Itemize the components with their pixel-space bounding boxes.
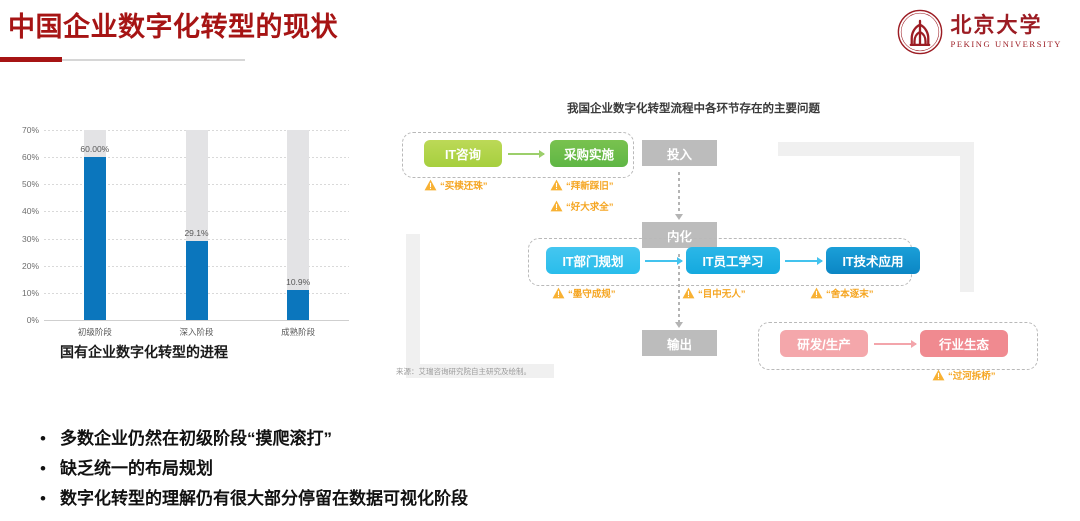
chart-caption: 国有企业数字化转型的进程 bbox=[60, 342, 228, 362]
warning-bai-xin-cai-jiu: “拜新踩旧” bbox=[550, 178, 614, 192]
university-seal-icon bbox=[897, 9, 943, 55]
warning-she-ben-zhu-mo: “舍本逐末” bbox=[810, 286, 874, 300]
warning-label: “买椟还珠” bbox=[440, 178, 488, 192]
logo-wordmark: 北京大学 PEKING UNIVERSITY bbox=[951, 15, 1063, 49]
warning-mu-zhong-wu-ren: “目中无人” bbox=[682, 286, 746, 300]
title-underline bbox=[0, 57, 245, 62]
x-axis-tick-label: 成熟阶段 bbox=[281, 326, 315, 338]
warning-icon bbox=[932, 369, 945, 381]
node-industry-ecosystem[interactable]: 行业生态 bbox=[920, 330, 1008, 357]
warning-label: “墨守成规” bbox=[568, 286, 616, 300]
y-axis-tick-label: 60% bbox=[22, 152, 39, 162]
page-title: 中国企业数字化转型的现状 bbox=[8, 8, 338, 46]
logo-chinese-name: 北京大学 bbox=[951, 15, 1063, 36]
arrow-row1-1 bbox=[508, 153, 544, 155]
chart-plot-area: 0%10%20%30%40%50%60%70%60.00%初级阶段29.1%深入… bbox=[44, 130, 349, 320]
list-item: •多数企业仍然在初级阶段“摸爬滚打” bbox=[40, 428, 740, 450]
warning-hao-da-qiu-quan: “好大求全” bbox=[550, 199, 614, 213]
warning-icon bbox=[550, 179, 563, 191]
list-item: •数字化转型的理解仍有很大部分停留在数据可视化阶段 bbox=[40, 488, 740, 510]
arrow-row2-1 bbox=[645, 260, 682, 262]
bar-value bbox=[287, 290, 309, 320]
stage-box-input: 投入 bbox=[642, 140, 717, 166]
y-axis-tick-label: 70% bbox=[22, 125, 39, 135]
warning-label: “好大求全” bbox=[566, 199, 614, 213]
bullet-marker: • bbox=[40, 488, 48, 510]
warning-guo-he-chai-qiao: “过河拆桥” bbox=[932, 368, 996, 382]
process-diagram: 我国企业数字化转型流程中各环节存在的主要问题 投入 内化 输出 IT咨询 采购实… bbox=[392, 96, 1080, 386]
y-axis-tick-label: 10% bbox=[22, 288, 39, 298]
bar-data-label: 29.1% bbox=[184, 228, 208, 238]
y-axis-tick-label: 50% bbox=[22, 179, 39, 189]
arrow-row2-2 bbox=[785, 260, 822, 262]
arrow-row3-1 bbox=[874, 343, 916, 345]
stage-box-output: 输出 bbox=[642, 330, 717, 356]
left-bracket-vertical bbox=[406, 234, 420, 378]
warning-icon bbox=[552, 287, 565, 299]
warning-icon bbox=[810, 287, 823, 299]
warning-label: “舍本逐末” bbox=[826, 286, 874, 300]
title-underline-accent bbox=[0, 57, 62, 62]
node-it-tech-application[interactable]: IT技术应用 bbox=[826, 247, 920, 274]
peking-university-logo: 北京大学 PEKING UNIVERSITY bbox=[897, 8, 1063, 56]
y-axis-tick-label: 20% bbox=[22, 261, 39, 271]
slide-root: 中国企业数字化转型的现状 北京大学 PEKING UNIVERSITY 0%10… bbox=[0, 0, 1080, 521]
bullet-marker: • bbox=[40, 428, 48, 450]
warning-label: “过河拆桥” bbox=[948, 368, 996, 382]
bar-value bbox=[84, 157, 106, 320]
warning-icon bbox=[682, 287, 695, 299]
gridline bbox=[44, 320, 349, 321]
bullet-text: 多数企业仍然在初级阶段“摸爬滚打” bbox=[60, 428, 332, 450]
y-axis-tick-label: 40% bbox=[22, 206, 39, 216]
bar-data-label: 60.00% bbox=[80, 144, 109, 154]
y-axis-tick-label: 0% bbox=[27, 315, 39, 325]
warning-icon bbox=[424, 179, 437, 191]
diagram-title: 我国企业数字化转型流程中各环节存在的主要问题 bbox=[567, 100, 820, 116]
warning-icon bbox=[550, 200, 563, 212]
node-it-dept-planning[interactable]: IT部门规划 bbox=[546, 247, 640, 274]
bullet-text: 数字化转型的理解仍有很大部分停留在数据可视化阶段 bbox=[60, 488, 468, 510]
warning-label: “拜新踩旧” bbox=[566, 178, 614, 192]
bar-data-label: 10.9% bbox=[286, 277, 310, 287]
key-points-list: •多数企业仍然在初级阶段“摸爬滚打”•缺乏统一的布局规划•数字化转型的理解仍有很… bbox=[40, 428, 740, 518]
bar-value bbox=[186, 241, 208, 320]
list-item: •缺乏统一的布局规划 bbox=[40, 458, 740, 480]
warning-mo-shou-cheng-gui: “墨守成规” bbox=[552, 286, 616, 300]
node-procurement[interactable]: 采购实施 bbox=[550, 140, 628, 167]
right-bracket-horizontal bbox=[778, 142, 974, 156]
warning-mai-du-huan-zhu: “买椟还珠” bbox=[424, 178, 488, 192]
bullet-marker: • bbox=[40, 458, 48, 480]
node-rd-production[interactable]: 研发/生产 bbox=[780, 330, 868, 357]
bullet-text: 缺乏统一的布局规划 bbox=[60, 458, 213, 480]
x-axis-tick-label: 初级阶段 bbox=[78, 326, 112, 338]
y-axis-tick-label: 30% bbox=[22, 234, 39, 244]
logo-english-name: PEKING UNIVERSITY bbox=[951, 40, 1063, 49]
stage-connector-1 bbox=[678, 172, 680, 214]
node-it-staff-learning[interactable]: IT员工学习 bbox=[686, 247, 780, 274]
warning-label: “目中无人” bbox=[698, 286, 746, 300]
node-it-consulting[interactable]: IT咨询 bbox=[424, 140, 502, 167]
x-axis-tick-label: 深入阶段 bbox=[179, 326, 213, 338]
bar-chart: 0%10%20%30%40%50%60%70%60.00%初级阶段29.1%深入… bbox=[0, 118, 370, 358]
diagram-source-note: 来源：艾瑞咨询研究院自主研究及绘制。 bbox=[396, 366, 531, 377]
right-bracket-vertical bbox=[960, 142, 974, 292]
